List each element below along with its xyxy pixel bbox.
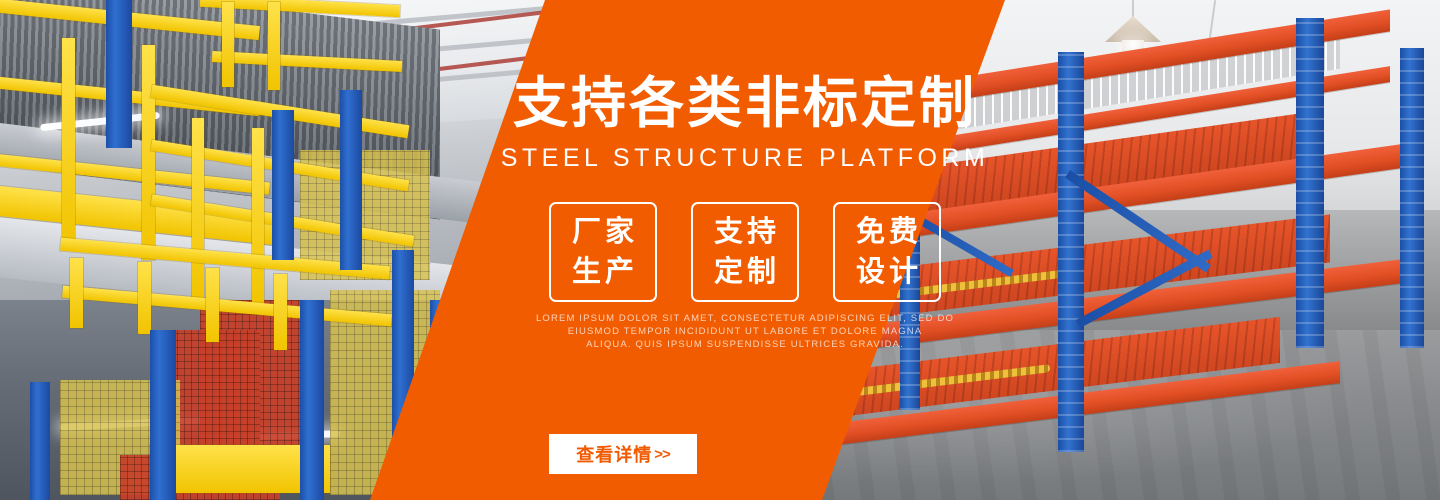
cta-label: 查看详情 [576, 441, 652, 467]
badge-line-2: 设计 [852, 252, 922, 292]
description-line-2: EIUSMOD TEMPOR INCIDIDUNT UT LABORE ET D… [25, 325, 1440, 338]
banner-content: 支持各类非标定制 STEEL STRUCTURE PLATFORM 厂家 生产 … [0, 0, 1440, 500]
headline-chinese: 支持各类非标定制 [25, 74, 1440, 133]
feature-badge-free-design[interactable]: 免费 设计 [833, 202, 941, 302]
badge-line-2: 定制 [710, 252, 780, 292]
headline-english: STEEL STRUCTURE PLATFORM [25, 144, 1440, 173]
promo-banner: 支持各类非标定制 STEEL STRUCTURE PLATFORM 厂家 生产 … [0, 0, 1440, 500]
description-line-3: ALIQUA. QUIS IPSUM SUSPENDISSE ULTRICES … [25, 338, 1440, 351]
badge-line-2: 生产 [568, 252, 638, 292]
feature-badge-list: 厂家 生产 支持 定制 免费 设计 [25, 202, 1440, 302]
cta-container: 查看详情 >> [0, 434, 1343, 474]
badge-line-1: 厂家 [568, 212, 638, 252]
chevron-right-icon: >> [654, 446, 670, 463]
view-details-button[interactable]: 查看详情 >> [549, 434, 697, 474]
description-text: LOREM IPSUM DOLOR SIT AMET, CONSECTETUR … [25, 312, 1440, 351]
feature-badge-customization[interactable]: 支持 定制 [691, 202, 799, 302]
feature-badge-manufacturer[interactable]: 厂家 生产 [549, 202, 657, 302]
badge-line-1: 免费 [852, 212, 922, 252]
description-line-1: LOREM IPSUM DOLOR SIT AMET, CONSECTETUR … [25, 312, 1440, 325]
badge-line-1: 支持 [710, 212, 780, 252]
